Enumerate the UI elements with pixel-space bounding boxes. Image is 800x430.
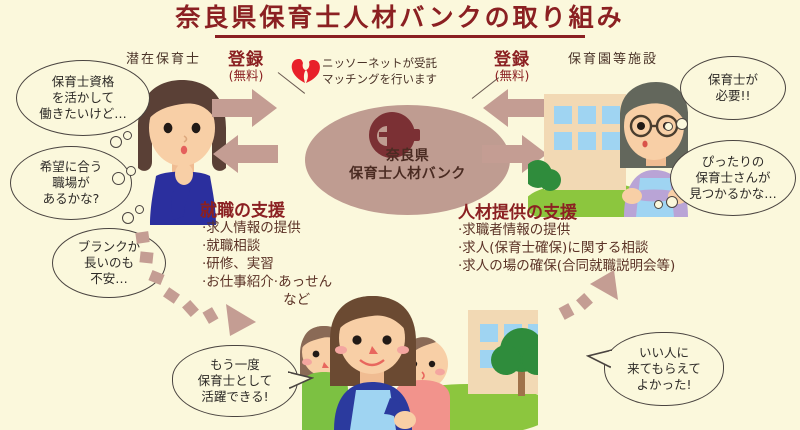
bank-name-line1: 奈良県 xyxy=(305,148,510,166)
left-item-1: ·就職相談 xyxy=(202,238,332,256)
right-section-list: ·求職者情報の提供 ·求人(保育士確保)に関する相談 ·求人の場の確保(合同就職… xyxy=(458,222,675,276)
callout-line1: ニッソーネットが受託 xyxy=(322,56,437,72)
right-item-2: ·求人の場の確保(合同就職説明会等) xyxy=(458,258,675,276)
bubble-right-mid: ぴったりの 保育士さんが 見つかるかな… xyxy=(670,140,796,216)
thought-dot xyxy=(126,166,136,176)
thought-dot xyxy=(123,131,132,140)
thought-dot xyxy=(666,196,678,208)
callout-line2: マッチングを行います xyxy=(322,72,437,88)
caregiver-with-children-illustration xyxy=(272,290,538,430)
flow-arrowhead-left xyxy=(222,302,258,338)
bubble-bottom-right: いい人に 来てもらえて よかった! xyxy=(604,332,724,406)
left-item-0: ·求人情報の提供 xyxy=(202,220,332,238)
bubble-right-top: 保育士が 必要!! xyxy=(680,56,786,120)
flow-dash xyxy=(182,300,199,317)
thought-dot xyxy=(112,172,125,185)
page-title-wrap: 奈良県保育士人材バンクの取り組み xyxy=(0,4,800,38)
register-label-left: 登録 (無料) xyxy=(216,52,276,83)
register-right-small: (無料) xyxy=(482,70,542,83)
bank-name: 奈良県 保育士人材バンク xyxy=(305,148,510,183)
flow-dash xyxy=(559,303,575,320)
bubble-bottom-left: もう一度 保育士として 活躍できる! xyxy=(172,345,298,417)
arrow-register-to-bank xyxy=(212,88,278,128)
infographic-canvas: 奈良県保育士人材バンクの取り組み 潜在保育士 保育士資格 を活かして 働きたいけ… xyxy=(0,0,800,430)
bank-name-line2: 保育士人材バンク xyxy=(305,166,510,184)
register-left-small: (無料) xyxy=(216,70,276,83)
title-underline xyxy=(215,35,585,38)
right-item-0: ·求職者情報の提供 xyxy=(458,222,675,240)
flow-arrowhead-right xyxy=(588,268,622,302)
label-nursery-facility: 保育園等施設 xyxy=(568,48,658,67)
right-section-heading: 人材提供の支援 xyxy=(458,198,577,223)
bubble-tail-left xyxy=(288,368,314,390)
thought-dot xyxy=(135,205,144,214)
callout-nissonet: ニッソーネットが受託 マッチングを行います xyxy=(322,56,437,87)
nursery-facility-illustration xyxy=(528,82,688,217)
right-item-1: ·求人(保育士確保)に関する相談 xyxy=(458,240,675,258)
flow-dash xyxy=(163,287,180,303)
heart-logo-icon xyxy=(291,58,321,84)
thought-dot xyxy=(122,212,134,224)
page-title: 奈良県保育士人材バンクの取り組み xyxy=(0,4,800,32)
flow-dash xyxy=(139,251,153,263)
bubble-left-top: 保育士資格 を活かして 働きたいけど… xyxy=(16,60,150,136)
register-right-big: 登録 xyxy=(494,50,530,70)
arrow-bank-to-caregiver xyxy=(212,134,278,174)
thought-dot xyxy=(676,118,688,130)
flow-dash xyxy=(135,231,149,244)
left-section-heading: 就職の支援 xyxy=(200,196,285,221)
thought-dot xyxy=(110,136,122,148)
left-item-2: ·研修、実習 xyxy=(202,256,332,274)
thought-dot xyxy=(654,200,663,209)
bubble-tail-right xyxy=(586,346,612,370)
label-potential-caregiver: 潜在保育士 xyxy=(126,48,201,67)
thought-dot xyxy=(664,122,673,131)
register-left-big: 登録 xyxy=(228,50,264,70)
register-label-right: 登録 (無料) xyxy=(482,52,542,83)
